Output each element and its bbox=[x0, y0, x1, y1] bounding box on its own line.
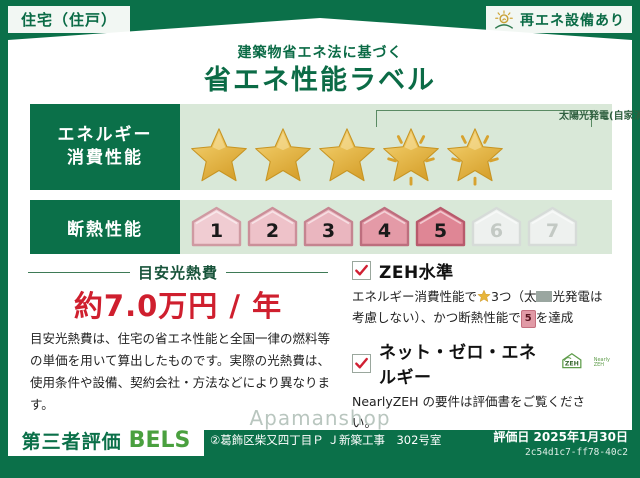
bels-badge: 第三者評価 BELS bbox=[8, 424, 204, 456]
zeh-item-net-zero: ネット・ゼロ・エネルギー ZEH Nearly ZEH NearlyZEH の要… bbox=[352, 338, 610, 433]
insulation-level-value: 3 bbox=[322, 220, 335, 248]
insulation-level-house: 5 bbox=[414, 206, 467, 248]
insulation-level-house: 6 bbox=[470, 206, 523, 248]
energy-label-line1: エネルギー bbox=[58, 124, 153, 147]
zeh-standard-title: ZEH水準 bbox=[379, 258, 454, 283]
zeh-logo-subtext: Nearly ZEH bbox=[594, 358, 610, 369]
insulation-level-badge: 5 bbox=[521, 310, 536, 329]
energy-performance-row: エネルギー 消費性能 太陽光発電(自家消費)分 bbox=[30, 104, 612, 190]
utility-cost-value: 約7.0万円 / 年 bbox=[28, 283, 328, 325]
evaluation-date-label: 評価日 bbox=[493, 430, 529, 444]
insulation-level-house: 2 bbox=[246, 206, 299, 248]
renewable-equipment-label: 再エネ設備あり bbox=[520, 10, 625, 30]
utility-cost-heading-text: 目安光熱費 bbox=[138, 262, 218, 283]
insulation-level-value: 5 bbox=[434, 220, 447, 248]
insulation-level-value: 1 bbox=[210, 220, 223, 248]
property-address: ②葛飾区柴又四丁目Ｐ Ｊ新築工事 302号室 bbox=[210, 432, 441, 448]
heading-rule-right bbox=[226, 272, 328, 273]
insulation-label-text: 断熱性能 bbox=[67, 215, 143, 240]
star-icon bbox=[380, 124, 442, 186]
zeh-body-part-b: 3つ（太 bbox=[491, 289, 536, 304]
svg-text:ZEH: ZEH bbox=[565, 361, 579, 368]
energy-label-line2: 消費性能 bbox=[67, 147, 143, 170]
energy-saving-performance-label: 住宅（住戸） 再エネ設備あり 建築物省エネ法に基づく 省エネ性能ラベル bbox=[0, 0, 640, 478]
checkbox-checked-icon bbox=[352, 354, 371, 373]
housing-type-label: 住宅（住戸） bbox=[21, 9, 117, 30]
renewable-equipment-tag: 再エネ設備あり bbox=[486, 6, 632, 33]
sun-renewable-icon bbox=[493, 10, 515, 30]
zeh-body-part-d: を達成 bbox=[536, 310, 574, 325]
insulation-level-value: 4 bbox=[378, 220, 391, 248]
insulation-level-value: 7 bbox=[546, 220, 559, 248]
insulation-level-house: 3 bbox=[302, 206, 355, 248]
insulation-level-house: 1 bbox=[190, 206, 243, 248]
zeh-net-zero-head: ネット・ゼロ・エネルギー ZEH Nearly ZEH bbox=[352, 338, 610, 388]
bels-jp-text: 第三者評価 bbox=[22, 427, 122, 454]
checkbox-checked-icon bbox=[352, 261, 371, 280]
energy-stars-area: 太陽光発電(自家消費)分 bbox=[180, 104, 612, 190]
zeh-logo-sub2: ZEH bbox=[594, 362, 604, 368]
zeh-body-part-a: エネルギー消費性能で bbox=[352, 289, 477, 304]
heading-rule-left bbox=[28, 272, 130, 273]
energy-star-rating bbox=[188, 124, 506, 186]
utility-cost-heading: 目安光熱費 bbox=[28, 262, 328, 283]
insulation-level-value: 6 bbox=[490, 220, 503, 248]
zeh-item-standard: ZEH水準 エネルギー消費性能で3つ（太光発電は考慮しない）、かつ断熱性能で5を… bbox=[352, 258, 610, 328]
star-icon bbox=[316, 124, 378, 186]
housing-type-tag: 住宅（住戸） bbox=[8, 6, 130, 33]
insulation-performance-label: 断熱性能 bbox=[30, 200, 180, 254]
zeh-standard-head: ZEH水準 bbox=[352, 258, 610, 283]
insulation-level-scale: 1234567 bbox=[180, 206, 579, 248]
bels-en-text: BELS bbox=[129, 428, 191, 453]
star-icon bbox=[444, 124, 506, 186]
zeh-house-logo-icon: ZEH bbox=[558, 351, 586, 375]
insulation-performance-row: 断熱性能 1234567 bbox=[30, 200, 612, 254]
star-icon bbox=[188, 124, 250, 186]
evaluation-date: 評価日 2025年1月30日 bbox=[493, 428, 628, 445]
evaluation-id: 2c54d1c7-ff78-40c2 bbox=[525, 447, 628, 458]
zeh-standard-body: エネルギー消費性能で3つ（太光発電は考慮しない）、かつ断熱性能で5を達成 bbox=[352, 287, 610, 328]
insulation-level-house: 7 bbox=[526, 206, 579, 248]
solar-caption: 太陽光発電(自家消費)分 bbox=[559, 107, 585, 122]
utility-cost-note: 目安光熱費は、住宅の省エネ性能と全国一律の燃料等の単価を用いて算出したものです。… bbox=[30, 328, 330, 416]
label-title: 省エネ性能ラベル bbox=[0, 58, 640, 97]
zeh-section: ZEH水準 エネルギー消費性能で3つ（太光発電は考慮しない）、かつ断熱性能で5を… bbox=[352, 258, 610, 444]
star-icon bbox=[252, 124, 314, 186]
insulation-level-house: 4 bbox=[358, 206, 411, 248]
redaction-block bbox=[536, 291, 552, 302]
star-icon-inline bbox=[477, 289, 491, 303]
energy-performance-label: エネルギー 消費性能 bbox=[30, 104, 180, 190]
insulation-level-value: 2 bbox=[266, 220, 279, 248]
evaluation-date-value: 2025年1月30日 bbox=[534, 430, 628, 444]
zeh-net-zero-title: ネット・ゼロ・エネルギー bbox=[379, 338, 550, 388]
